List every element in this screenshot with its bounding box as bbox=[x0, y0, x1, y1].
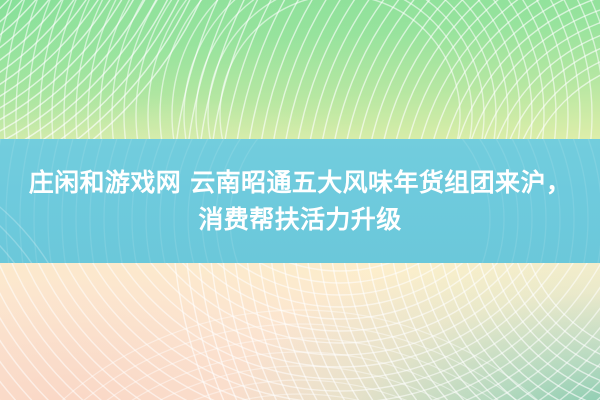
banner-image: 庄闲和游戏网 云南昭通五大风味年货组团来沪， 消费帮扶活力升级 bbox=[0, 0, 600, 400]
headline-text-block: 庄闲和游戏网 云南昭通五大风味年货组团来沪， 消费帮扶活力升级 bbox=[0, 139, 600, 263]
headline-line-1: 庄闲和游戏网 云南昭通五大风味年货组团来沪， bbox=[29, 166, 572, 200]
headline-line-2: 消费帮扶活力升级 bbox=[198, 203, 401, 237]
